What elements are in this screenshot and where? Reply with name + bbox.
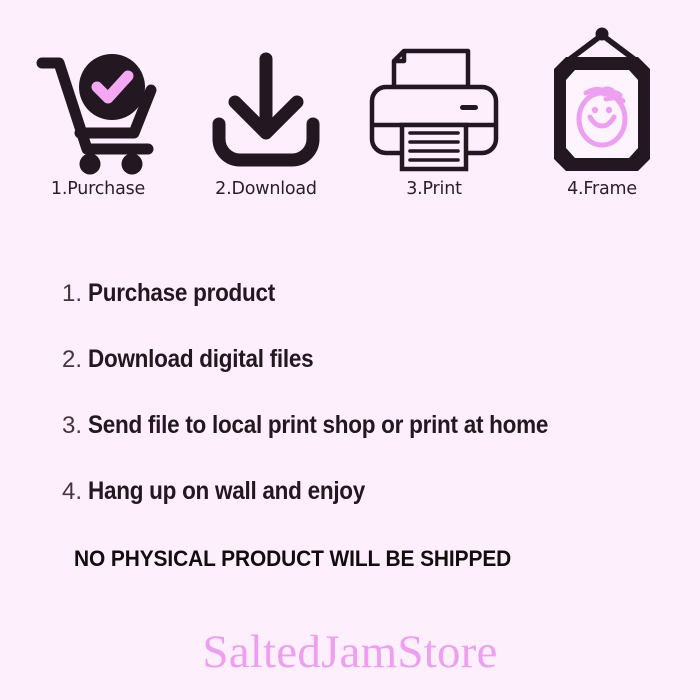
instruction-number-3: 3. [62,412,88,440]
no-physical-product-disclaimer: NO PHYSICAL PRODUCT WILL BE SHIPPED [74,546,511,572]
instruction-item-4: 4. Hang up on wall and enjoy [62,477,682,543]
step-print-icon-wrap [364,27,504,175]
instruction-item-1: 1. Purchase product [62,279,682,345]
shopping-cart-check-icon [33,45,163,175]
instruction-text-3: Send file to local print shop or print a… [88,411,548,440]
doodle-hair-strand-3 [604,92,620,95]
download-arrow-tray-icon [207,45,325,175]
step-download-icon-wrap [207,27,325,175]
store-name-wordmark: SaltedJamStore [0,625,700,679]
doodle-eye-right [606,107,612,113]
instruction-item-3: 3. Send file to local print shop or prin… [62,411,682,477]
printer-icon [364,43,504,175]
instruction-text-2: Download digital files [88,345,313,374]
step-purchase-label: 1.Purchase [51,179,145,199]
frame-nail-icon [596,28,609,41]
doodle-eye-left [592,107,598,113]
step-frame-icon-wrap [542,27,662,175]
step-purchase-icon-wrap [33,27,163,175]
cart-wheel-left [80,154,101,175]
instruction-text-1: Purchase product [88,279,275,308]
step-download: 2.Download [186,14,346,199]
step-frame: 4.Frame [522,14,682,199]
instruction-number-4: 4. [62,478,88,506]
instruction-number-1: 1. [62,280,88,308]
step-print-label: 3.Print [406,179,462,199]
step-purchase: 1.Purchase [18,14,178,199]
digital-download-instructions-graphic: 1.Purchase 2.Download [0,0,700,700]
steps-row: 1.Purchase 2.Download [0,14,700,199]
instruction-item-2: 2. Download digital files [62,345,682,411]
step-download-label: 2.Download [215,179,317,199]
instruction-list: 1. Purchase product 2. Download digital … [62,279,682,543]
printer-status-light [460,105,478,110]
step-print: 3.Print [354,14,514,199]
instruction-text-4: Hang up on wall and enjoy [88,477,365,506]
cart-wheel-right [122,154,143,175]
instruction-number-2: 2. [62,346,88,374]
step-frame-label: 4.Frame [567,179,637,199]
hanging-picture-frame-icon [542,27,662,175]
